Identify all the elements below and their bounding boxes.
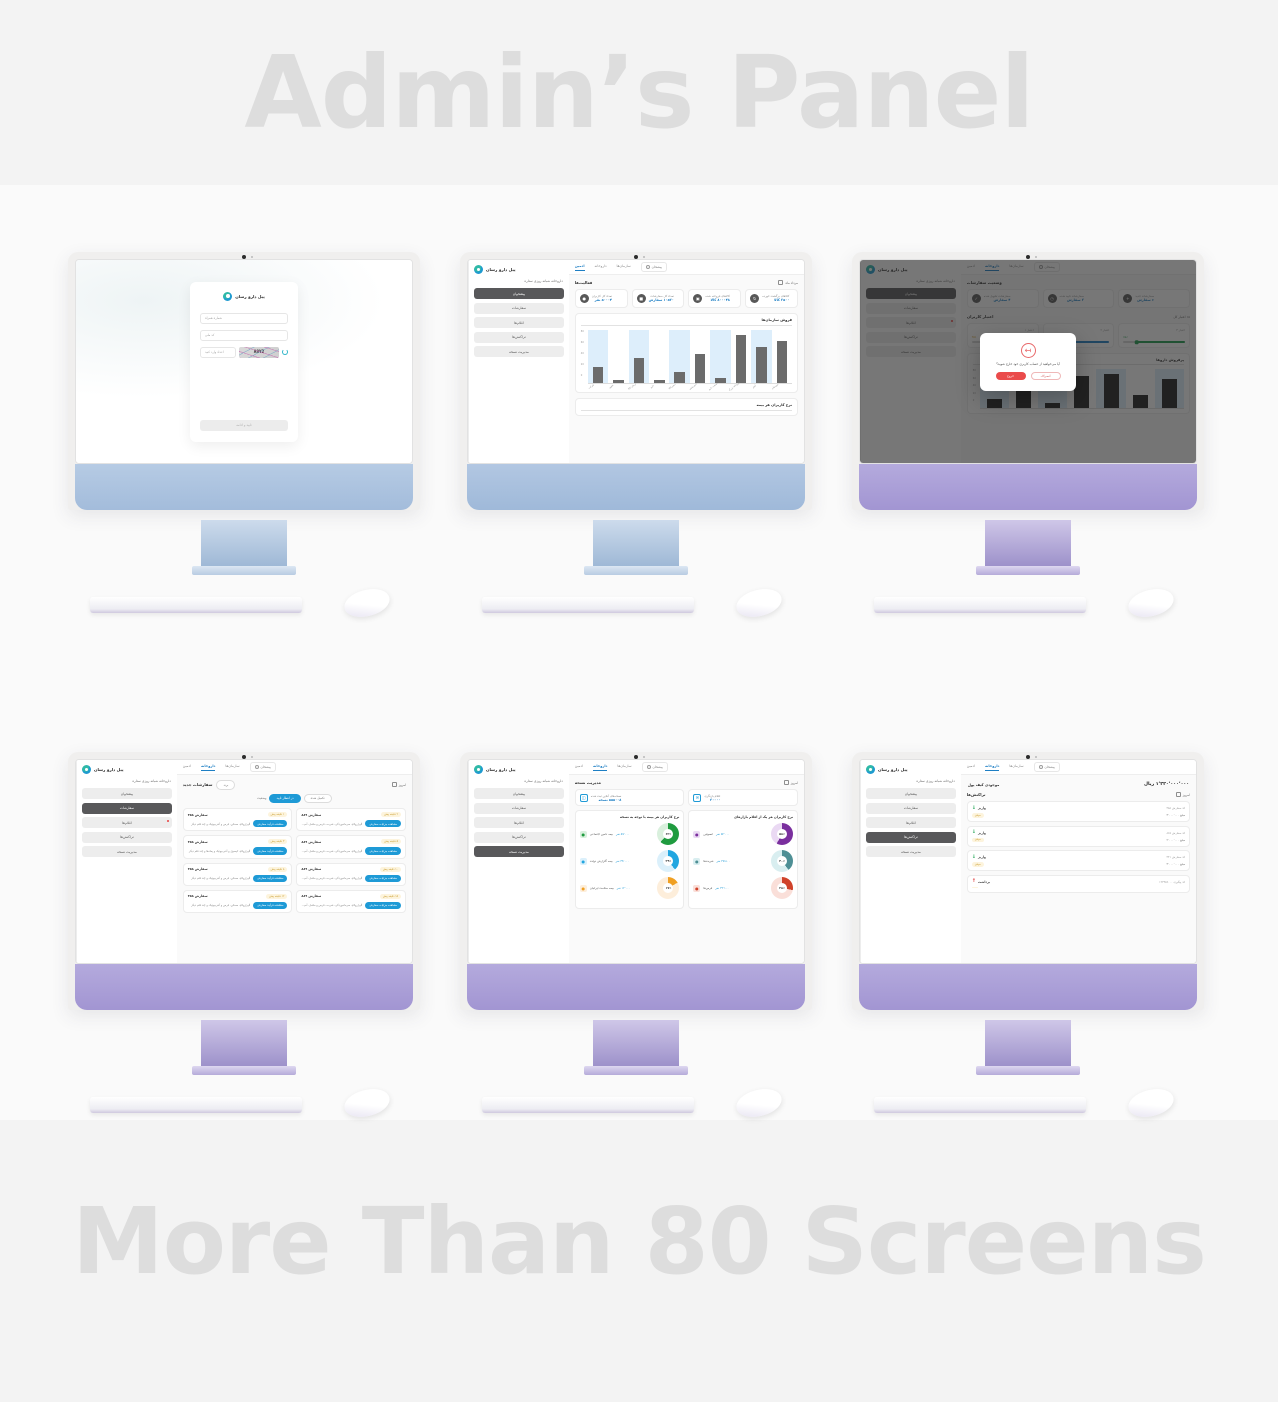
order-time: ۸ دقیقه پیش (268, 867, 288, 872)
donut-count: ۳۲٬۱۰۰ نفر (715, 886, 728, 890)
transaction-kind-label: واریز (978, 806, 986, 810)
screen-shell: پیل دارو رسان شماره همراه کد ملی اعداد و… (68, 252, 420, 510)
transaction-amount: مبلغ ۴٬۰۰۰٬۰۰۰ (1166, 862, 1185, 866)
sidebar-item-prescriptions[interactable]: مدیریت نسخه (82, 846, 172, 857)
donut-card-insurance: نرخ کاربران هر بیمه با توجه به نسخه ●بیم… (575, 810, 685, 909)
x-axis-labels: شرکتتجهیزدرمان کالادارودیجی‌کالادارو پخش… (581, 385, 785, 388)
store-name: داروخانه شبانه روزی ستاره (474, 279, 563, 283)
bar-column (629, 330, 649, 383)
donut-percent: ۳۹٪ (657, 850, 679, 872)
profile-chip[interactable]: پیشخان (250, 762, 276, 771)
tab-pharmacy[interactable]: داروخانه (595, 264, 607, 270)
monitor-neck (593, 1020, 679, 1068)
bag-icon: ■ (637, 294, 646, 303)
bar-column (731, 330, 751, 383)
monitor-foot (584, 566, 688, 575)
transactions-list: ↓واریزکد سفارش ۴۵۸موفقمبلغ ۳٬۰۰۰٬۰۰۰↓وار… (967, 801, 1190, 893)
donut-percent: ۴۰٪ (771, 850, 793, 872)
order-id: سفارش ۸۸۹ (301, 813, 321, 817)
content: ادمین داروخانه سازمان‌ها پیشخان مدیریت ن… (569, 760, 804, 963)
transaction-kind-label: برداشت (978, 880, 990, 884)
tab-admin[interactable]: ادمین (967, 764, 975, 770)
screen-shell: پیل دارو رسان داروخانه شبانه روزی ستاره … (852, 752, 1204, 1010)
sidebar-item-dashboard[interactable]: پیشخوان (866, 788, 956, 799)
tab-pharmacy[interactable]: داروخانه (201, 764, 215, 771)
monitor-chin (859, 464, 1197, 510)
page-title-bottom: More Than 80 Screens (0, 1190, 1278, 1294)
order-time: ۳ دقیقه پیش (268, 839, 288, 844)
sidebar-item-dashboard[interactable]: پیشخوان (474, 288, 564, 299)
order-id: سفارش ۴۵۸ (188, 867, 208, 871)
sidebar: پیل دارو رسان داروخانه شبانه روزی ستاره … (76, 760, 177, 963)
section-header: تراکنش‌ها امروز (967, 792, 1190, 797)
body: موجودی کیف پول ۱٬۲۲۰٬۰۰۰٬۰۰۰ ریال تراکنش… (961, 775, 1196, 963)
date-label: امروز (399, 783, 406, 787)
order-description: آلپرازولام، مسکن، قرص و آنتی‌بیوتیک و چن… (188, 876, 251, 880)
captcha-image: A8Y2 (239, 347, 279, 358)
stat-value: ۲۵۰۰ کالا (762, 298, 789, 303)
store-name: داروخانه شبانه روزی ستاره (474, 779, 563, 783)
pill-logo-icon (474, 765, 483, 774)
monitor-orders: پیل دارو رسان داروخانه شبانه روزی ستاره … (68, 752, 420, 1010)
page-title: سفارشات جدید (183, 782, 213, 787)
sidebar-item-items[interactable]: اقلام‌ها (82, 817, 172, 828)
keyboard[interactable] (482, 597, 694, 613)
donut-row: ●انسولین۵۲٬۰۰۰ نفر۵۸٪ (693, 823, 793, 845)
modal-message: آیا می‌خواهید از حساب کاربری خود خارج شو… (996, 362, 1060, 366)
keyboard[interactable] (874, 1097, 1086, 1113)
order-id: سفارش ۴۵۸ (188, 840, 208, 844)
transaction-footer: موفقمبلغ ۲٬۰۰۰٬۰۰۰ (972, 838, 1185, 843)
order-header: سفارش ۸۸۹۱۵ دقیقه پیش (301, 894, 401, 899)
order-footer: آلپرازولام، سرماخوردگی، شربت، قرص و مکمل… (301, 847, 401, 854)
brand: پیل دارو رسان (474, 265, 564, 274)
order-card[interactable]: سفارش ۸۸۹۱۰ دقیقه پیشآلپرازولام، سرماخور… (296, 863, 406, 886)
transaction-footer (972, 887, 1185, 889)
donut-chart: ۶۲٪ (657, 823, 679, 845)
section-header: سفارشات جدید برند امروز (183, 780, 406, 790)
tab-organizations[interactable]: سازمان‌ها (225, 764, 239, 770)
captcha-row: اعداد وارد کنید A8Y2 (200, 347, 288, 358)
donut-rows: ●انسولین۵۲٬۰۰۰ نفر۵۸٪●شربت‌ها۴۵٬۸۰۰ نفر۴… (693, 823, 793, 899)
order-footer: آلپرازولام، سرماخوردگی، شربت، قرص و مکمل… (301, 902, 401, 909)
sidebar-item-orders[interactable]: سفارشات (82, 803, 172, 814)
insurance-title: نرخ کاربران هر بیمه (581, 403, 792, 411)
bar (777, 341, 788, 383)
monitor-transactions: پیل دارو رسان داروخانه شبانه روزی ستاره … (852, 752, 1204, 1010)
transaction-row[interactable]: ↓واریزکد سفارش ۴۴۱موفقمبلغ ۴٬۰۰۰٬۰۰۰ (967, 850, 1190, 871)
transaction-row[interactable]: ↓واریزکد سفارش ۸۸۹موفقمبلغ ۲٬۰۰۰٬۰۰۰ (967, 826, 1190, 847)
transaction-footer: موفقمبلغ ۴٬۰۰۰٬۰۰۰ (972, 862, 1185, 867)
order-id: سفارش ۴۵۸ (188, 894, 208, 898)
profile-label: پیشخان (1045, 765, 1055, 769)
sidebar-item-prescriptions[interactable]: مدیریت نسخه (474, 346, 564, 357)
order-footer: آلپرازولام، مسکن، قرص و آنتی‌بیوتیک و چن… (188, 820, 288, 827)
donut-row: ●شربت‌ها۴۵٬۸۰۰ نفر۴۰٪ (693, 850, 793, 872)
order-id: سفارش ۴۵۸ (188, 813, 208, 817)
body: مدیریت نسخه امروز ◫ (569, 775, 804, 963)
filter-completed[interactable]: تکمیل شده (304, 794, 332, 804)
screen-transactions: پیل دارو رسان داروخانه شبانه روزی ستاره … (859, 759, 1197, 964)
pill-logo-icon (223, 292, 232, 301)
app-shell: پیل دارو رسان داروخانه شبانه روزی ستاره … (468, 260, 804, 463)
store-name: داروخانه شبانه روزی ستاره (866, 779, 955, 783)
app-shell: پیل دارو رسان داروخانه شبانه روزی ستاره … (860, 760, 1196, 963)
donut-row: ●بیمه گلزارش دولت۳۹٬۰۰۰ نفر۳۹٪ (580, 850, 680, 872)
content: ادمین داروخانه سازمان‌ها پیشخان فعالیت‌ه… (569, 260, 804, 463)
order-card[interactable]: سفارش ۴۵۸۱ دقیقه پیشآلپرازولام، مسکن، قر… (183, 808, 293, 831)
sidebar: پیل دارو رسان داروخانه شبانه روزی ستاره … (468, 760, 569, 963)
status-badge (972, 887, 978, 889)
topbar: ادمین داروخانه سازمان‌ها پیشخان (177, 760, 412, 775)
order-action-button[interactable]: مشاهده جزئیات سفارش (365, 902, 401, 909)
return-icon: ↻ (750, 294, 759, 303)
order-footer: آلپرازولام، سرماخوردگی، شربت، قرص و مکمل… (301, 875, 401, 882)
order-description: آلپرازولام، مسکن، قرص و آنتی‌بیوتیک و چن… (188, 903, 251, 907)
monitor-foot (192, 566, 296, 575)
page-title: فعالیت‌ها (575, 280, 593, 285)
order-description: آلپرازولام، کپسول و آنتی‌بیوتیک و پمادها… (188, 849, 251, 853)
pill-logo-icon (82, 765, 91, 774)
transaction-kind-label: واریز (978, 831, 986, 835)
brand-dropdown[interactable]: برند (216, 780, 235, 790)
monitor-foot (584, 1066, 688, 1075)
order-footer: آلپرازولام، سرماخوردگی، شربت، قرص و مکمل… (301, 820, 401, 827)
order-card[interactable]: سفارش ۸۸۹۱۵ دقیقه پیشآلپرازولام، سرماخور… (296, 890, 406, 913)
cancel-button[interactable]: انصراف (1031, 372, 1061, 380)
date-label: امروز (791, 781, 798, 785)
transaction-ref: کد سفارش ۴۴۱ (1167, 855, 1185, 859)
donut-count: ۵۲٬۰۰۰ نفر (716, 832, 729, 836)
transaction-row[interactable]: ↓واریزکد سفارش ۴۵۸موفقمبلغ ۳٬۰۰۰٬۰۰۰ (967, 801, 1190, 822)
tab-admin[interactable]: ادمین (575, 764, 583, 770)
calendar-icon (784, 780, 789, 785)
monitor-neck (201, 520, 287, 568)
status-badge: موفق (972, 838, 984, 843)
person-icon (646, 265, 650, 269)
stat-value: ۸۰۰۰۴۸ کالا (705, 298, 729, 303)
sidebar-item-items[interactable]: اقلام‌ها (474, 317, 564, 328)
donut-count: ۱۲٬۰۰۰ نفر (617, 886, 630, 890)
order-card[interactable]: سفارش ۸۸۹۵ دقیقه پیشآلپرازولام، سرماخورد… (296, 835, 406, 858)
donut-chart: ۵۸٪ (771, 823, 793, 845)
donut-percent: ۵۸٪ (771, 823, 793, 845)
status-filters: وضعیت در انتظار تایید تکمیل شده (183, 794, 406, 804)
stat-card[interactable]: ● تعداد کل کاربران ۵۰۰۰۴ نفر (575, 289, 628, 308)
page-title-top: Admin’s Panel (0, 38, 1278, 148)
order-description: آلپرازولام، سرماخوردگی، شربت، قرص و مکمل… (301, 903, 362, 907)
order-description: آلپرازولام، مسکن، قرص و آنتی‌بیوتیک و چن… (188, 822, 251, 826)
sidebar-item-orders[interactable]: سفارشات (474, 803, 564, 814)
monitor-foot (976, 1066, 1080, 1075)
insurance-card: نرخ کاربران هر بیمه (575, 398, 798, 416)
monitor-chin (859, 964, 1197, 1010)
person-icon (1039, 765, 1043, 769)
transaction-amount: مبلغ ۲٬۰۰۰٬۰۰۰ (1166, 838, 1185, 842)
order-action-button[interactable]: مشاهده جزئیات سفارش (365, 820, 401, 827)
donut-percent: ۶۲٪ (657, 823, 679, 845)
order-card[interactable]: سفارش ۸۸۹۲ دقیقه پیشآلپرازولام، سرماخورد… (296, 808, 406, 831)
screen-logout: پیل دارو رسان داروخانه شبانه روزی ستاره … (859, 259, 1197, 464)
donut-chart: ۴۰٪ (771, 850, 793, 872)
shield-icon: ● (580, 831, 587, 838)
column-left: ✉ اقلام بازنگری ۳۰۰۰۰ نرخ کاربران هر یک … (688, 789, 798, 909)
bar (756, 347, 767, 383)
monitor-prescriptions: پیل دارو رسان داروخانه شبانه روزی ستاره … (460, 752, 812, 1010)
column-right: ◫ نسخه‌های آنلاین ثبت شده ۵۵۵۰۰۸ نسخه نر… (575, 789, 685, 909)
stat-card[interactable]: ↻ کالاهای برگشت خورده ۲۵۰۰ کالا (745, 289, 798, 308)
donut-label: بیمه گلزارش دولت (590, 859, 613, 863)
stat-value: ۵۰۰۰۴ نفر (592, 298, 612, 303)
screen-login: پیل دارو رسان شماره همراه کد ملی اعداد و… (75, 259, 413, 464)
screen-shell: پیل دارو رسان داروخانه شبانه روزی ستاره … (852, 252, 1204, 510)
order-action-button[interactable]: مشاهده فرآیند سفارش (253, 820, 287, 827)
bottle-icon: ● (693, 858, 700, 865)
sidebar-item-dashboard[interactable]: پیشخوان (82, 788, 172, 799)
brand-name: پیل دارو رسان (94, 767, 124, 772)
profile-chip[interactable]: پیشخان (1034, 762, 1060, 771)
chart-title: فروش سازمان‌ها (581, 318, 792, 326)
screen-shell: پیل دارو رسان داروخانه شبانه روزی ستاره … (460, 752, 812, 1010)
login-card: پیل دارو رسان شماره همراه کد ملی اعداد و… (190, 282, 298, 442)
order-action-button[interactable]: مشاهده جزئیات سفارش (365, 875, 401, 882)
order-time: ۱۲ دقیقه پیش (266, 894, 287, 899)
stat-card[interactable]: ■ تعداد کل سفارشات ۱۰۵۳۰ سفارش (632, 289, 685, 308)
donut-percent: ۲۸٪ (771, 877, 793, 899)
screen-shell: پیل دارو رسان داروخانه شبانه روزی ستاره … (68, 752, 420, 1010)
order-action-button[interactable]: مشاهده فرآیند سفارش (253, 847, 287, 854)
pill-logo-icon (474, 265, 483, 274)
monitor-logout: پیل دارو رسان داروخانه شبانه روزی ستاره … (852, 252, 1204, 510)
tab-pharmacy[interactable]: داروخانه (593, 764, 607, 771)
monitor-neck (985, 520, 1071, 568)
filter-pending[interactable]: در انتظار تایید (269, 794, 300, 804)
date-label: امروز (1183, 793, 1190, 797)
order-header: سفارش ۴۵۸۳ دقیقه پیش (188, 839, 288, 844)
transaction-row[interactable]: ↑برداشتکد پیگیری ۱۲۳۴۵۶۰۰۰ (967, 875, 1190, 893)
tab-organizations[interactable]: سازمان‌ها (617, 264, 631, 270)
sidebar-item-orders[interactable]: سفارشات (474, 303, 564, 314)
screen-shell: پیل دارو رسان داروخانه شبانه روزی ستاره … (460, 252, 812, 510)
sidebar-item-transactions[interactable]: تراکنش‌ها (82, 832, 172, 843)
date-filter[interactable]: امروز (784, 780, 798, 785)
transaction-header: ↓واریزکد سفارش ۴۴۱ (972, 855, 1185, 860)
status-badge: موفق (972, 862, 984, 867)
sidebar-item-items[interactable]: اقلام‌ها (866, 817, 956, 828)
sidebar-item-dashboard[interactable]: پیشخوان (474, 788, 564, 799)
order-time: ۱۰ دقیقه پیش (380, 867, 401, 872)
date-filter[interactable]: امروز (1176, 792, 1190, 797)
sidebar-item-transactions[interactable]: تراکنش‌ها (474, 332, 564, 343)
mobile-field[interactable]: شماره همراه (200, 313, 288, 324)
order-header: سفارش ۴۵۸۸ دقیقه پیش (188, 867, 288, 872)
national-id-field[interactable]: کد ملی (200, 330, 288, 341)
confirm-logout-button[interactable]: خروج (996, 372, 1026, 380)
screen-orders: پیل دارو رسان داروخانه شبانه روزی ستاره … (75, 759, 413, 964)
brand: پیل دارو رسان (474, 765, 564, 774)
app-shell: پیل دارو رسان داروخانه شبانه روزی ستاره … (76, 760, 412, 963)
order-id: سفارش ۸۸۹ (301, 867, 321, 871)
camera-led (251, 756, 253, 758)
order-description: آلپرازولام، سرماخوردگی، شربت، قرص و مکمل… (301, 876, 362, 880)
sidebar-item-prescriptions[interactable]: مدیریت نسخه (866, 846, 956, 857)
syringe-icon: ● (693, 831, 700, 838)
transaction-header: ↓واریزکد سفارش ۴۵۸ (972, 806, 1185, 811)
page-title: مدیریت نسخه (575, 780, 601, 785)
login-brand: پیل دارو رسان (223, 292, 265, 301)
monitor-neck (201, 1020, 287, 1068)
tab-pharmacy[interactable]: داروخانه (985, 764, 999, 771)
calendar-icon (778, 280, 783, 285)
user-icon: ● (580, 294, 589, 303)
camera-led (643, 256, 645, 258)
keyboard[interactable] (482, 1097, 694, 1113)
bar-column (772, 330, 792, 383)
tab-admin[interactable]: ادمین (575, 264, 585, 271)
order-time: ۱۵ دقیقه پیش (380, 894, 401, 899)
brand: پیل دارو رسان (866, 765, 956, 774)
tab-organizations[interactable]: سازمان‌ها (1009, 764, 1023, 770)
pill-logo-icon (866, 765, 875, 774)
notification-dot-icon (167, 820, 169, 822)
donut-percent: ۱۷٪ (657, 877, 679, 899)
qr-icon: ● (580, 858, 587, 865)
filter-label: وضعیت (257, 796, 266, 800)
order-action-button[interactable]: مشاهده جزئیات سفارش (365, 847, 401, 854)
donut-row: ●بیمه سلامت ایرانیان۱۲٬۰۰۰ نفر۱۷٪ (580, 877, 680, 899)
donut-count: ۵۹٬۰۰۰ نفر (616, 832, 629, 836)
date-label: مرداد ماه (785, 281, 798, 285)
monitor-chin (467, 964, 805, 1010)
screen-dashboard: پیل دارو رسان داروخانه شبانه روزی ستاره … (467, 259, 805, 464)
monitor-chin (75, 464, 413, 510)
wallet-label: موجودی کیف پول (968, 783, 1000, 787)
donut-row: ●قرص‌ها۳۲٬۱۰۰ نفر۲۸٪ (693, 877, 793, 899)
profile-label: پیشخان (261, 765, 271, 769)
camera-led (251, 256, 253, 258)
store-name: داروخانه شبانه روزی ستاره (82, 779, 171, 783)
transaction-kind: ↓واریز (972, 806, 986, 811)
order-card[interactable]: سفارش ۴۵۸۱۲ دقیقه پیشآلپرازولام، مسکن، ق… (183, 890, 293, 913)
bar-column (649, 330, 669, 383)
tab-organizations[interactable]: سازمان‌ها (617, 764, 631, 770)
donut-label: انسولین (703, 832, 713, 836)
poster-root: Admin’s Panel More Than 80 Screens پیل د… (0, 0, 1278, 1402)
bar-column (588, 330, 608, 383)
profile-chip[interactable]: پیشخان (641, 262, 667, 271)
transaction-ref: کد سفارش ۸۸۹ (1167, 831, 1185, 835)
order-action-button[interactable]: مشاهده فرآیند سفارش (253, 902, 287, 909)
sidebar-item-items[interactable]: اقلام‌ها (474, 817, 564, 828)
prescription-columns: ◫ نسخه‌های آنلاین ثبت شده ۵۵۵۰۰۸ نسخه نر… (575, 789, 798, 909)
app-shell: پیل دارو رسان داروخانه شبانه روزی ستاره … (468, 760, 804, 963)
bar-column (690, 330, 710, 383)
donut-chart: ۲۸٪ (771, 877, 793, 899)
transaction-amount: مبلغ ۳٬۰۰۰٬۰۰۰ (1166, 813, 1185, 817)
order-description: آلپرازولام، سرماخوردگی، شربت، قرص و مکمل… (301, 849, 362, 853)
order-card[interactable]: سفارش ۴۵۸۸ دقیقه پیشآلپرازولام، مسکن، قر… (183, 863, 293, 886)
submit-button[interactable]: تایید و ادامه (200, 420, 288, 431)
monitor-neck (593, 520, 679, 568)
order-header: سفارش ۴۵۸۱۲ دقیقه پیش (188, 894, 288, 899)
camera-led (1035, 256, 1037, 258)
profile-chip[interactable]: پیشخان (642, 762, 668, 771)
donut-title: نرخ کاربران هر یک از اقلام بازارهای (693, 815, 793, 819)
camera-led (643, 756, 645, 758)
donut-label: شربت‌ها (703, 859, 713, 863)
person-icon (255, 765, 259, 769)
order-time: ۵ دقیقه پیش (381, 839, 401, 844)
topbar: ادمین داروخانه سازمان‌ها پیشخان (569, 760, 804, 775)
sidebar-item-prescriptions[interactable]: مدیریت نسخه (474, 846, 564, 857)
sidebar-item-transactions[interactable]: تراکنش‌ها (474, 832, 564, 843)
topbar: ادمین داروخانه سازمان‌ها پیشخان (961, 760, 1196, 775)
stat-cards: ● تعداد کل کاربران ۵۰۰۰۴ نفر ■ (575, 289, 798, 308)
date-filter[interactable]: مرداد ماه (778, 280, 798, 285)
order-action-button[interactable]: مشاهده فرآیند سفارش (253, 875, 287, 882)
sidebar-item-orders[interactable]: سفارشات (866, 803, 956, 814)
section-header: مدیریت نسخه امروز (575, 780, 798, 785)
tab-admin[interactable]: ادمین (183, 764, 191, 770)
order-id: سفارش ۸۸۹ (301, 894, 321, 898)
keyboard[interactable] (90, 597, 302, 613)
mini-stat-card[interactable]: ✉ اقلام بازنگری ۳۰۰۰۰ (688, 789, 798, 806)
body: فعالیت‌ها مرداد ماه ● تع (569, 275, 804, 463)
person-icon (647, 765, 651, 769)
modal-actions: خروج انصراف (996, 372, 1061, 380)
arrow-down-icon: ↓ (972, 806, 976, 811)
monitor-chin (467, 464, 805, 510)
date-filter[interactable]: امروز (392, 782, 406, 787)
logout-modal: ↤ آیا می‌خواهید از حساب کاربری خود خارج … (980, 333, 1076, 391)
keyboard[interactable] (90, 1097, 302, 1113)
donut-label: قرص‌ها (703, 886, 712, 890)
order-card[interactable]: سفارش ۴۵۸۳ دقیقه پیشآلپرازولام، کپسول و … (183, 835, 293, 858)
sidebar-item-transactions[interactable]: تراکنش‌ها (866, 832, 956, 843)
mini-stat-card[interactable]: ◫ نسخه‌های آنلاین ثبت شده ۵۵۵۰۰۸ نسخه (575, 789, 685, 806)
transaction-kind: ↓واریز (972, 855, 986, 860)
monitor-foot (976, 566, 1080, 575)
login-title: پیل دارو رسان (235, 294, 265, 299)
donut-card-items: نرخ کاربران هر یک از اقلام بازارهای ●انس… (688, 810, 798, 909)
wallet-summary: موجودی کیف پول ۱٬۲۲۰٬۰۰۰٬۰۰۰ ریال (967, 780, 1190, 792)
stat-card[interactable]: ▣ کالاهای فروخته شده ۸۰۰۰۴۸ کالا (688, 289, 741, 308)
topbar: ادمین داروخانه سازمان‌ها پیشخان (569, 260, 804, 275)
arrow-down-icon: ↓ (972, 855, 976, 860)
keyboard[interactable] (874, 597, 1086, 613)
sales-chart-card: فروش سازمان‌ها 806040200 شرکتتجهیزدرمان … (575, 313, 798, 393)
monitor-neck (985, 1020, 1071, 1068)
sidebar: پیل دارو رسان داروخانه شبانه روزی ستاره … (468, 260, 569, 463)
plot-area (588, 330, 792, 384)
brand-name: پیل دارو رسان (878, 767, 908, 772)
mini-stat-value: ۵۵۵۰۰۸ نسخه (591, 798, 622, 802)
page-title: تراکنش‌ها (967, 792, 986, 797)
captcha-input[interactable]: اعداد وارد کنید (200, 347, 236, 358)
refresh-icon[interactable] (282, 349, 288, 355)
bar-column (669, 330, 689, 383)
transaction-header: ↑برداشتکد پیگیری ۱۲۳۴۵۶۰۰۰ (972, 879, 1185, 884)
donut-count: ۴۵٬۸۰۰ نفر (716, 859, 729, 863)
transaction-footer: موفقمبلغ ۳٬۰۰۰٬۰۰۰ (972, 813, 1185, 818)
brand-name: پیل دارو رسان (486, 267, 516, 272)
file-icon: ◫ (580, 794, 588, 802)
arrow-up-icon: ↑ (972, 879, 976, 884)
mail-icon: ✉ (693, 794, 701, 802)
order-header: سفارش ۸۸۹۲ دقیقه پیش (301, 812, 401, 817)
mini-stat-label: اقلام بازنگری (704, 794, 720, 798)
order-time: ۱ دقیقه پیش (268, 812, 288, 817)
